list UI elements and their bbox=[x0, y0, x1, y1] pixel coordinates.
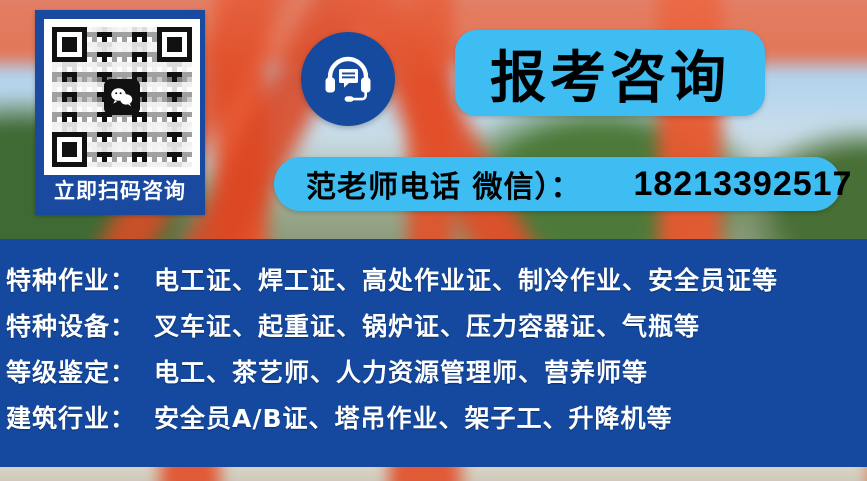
category-items: 电工证、焊工证、高处作业证、制冷作业、安全员证等 bbox=[154, 261, 778, 297]
category-label: 建筑行业： bbox=[6, 399, 136, 435]
headset-support-icon bbox=[301, 32, 395, 126]
category-items: 电工、茶艺师、人力资源管理师、营养师等 bbox=[154, 353, 648, 389]
wechat-icon bbox=[104, 79, 140, 115]
phone-contact-pill[interactable]: 范老师电话 微信）： 18213392517 bbox=[274, 157, 841, 211]
promo-poster: 立即扫码咨询 报考咨询 范老师电话 微信）： 18213392517 特种作业：… bbox=[0, 0, 867, 481]
qr-code-frame bbox=[44, 19, 200, 175]
qr-card[interactable]: 立即扫码咨询 bbox=[35, 10, 205, 215]
bottom-photo-strip bbox=[0, 467, 867, 481]
blurred-bottom-photo bbox=[0, 467, 867, 481]
category-items: 叉车证、起重证、锅炉证、压力容器证、气瓶等 bbox=[154, 307, 700, 343]
category-label: 特种设备： bbox=[6, 307, 136, 343]
info-row-special-operations: 特种作业： 电工证、焊工证、高处作业证、制冷作业、安全员证等 bbox=[0, 256, 867, 302]
category-items: 安全员A/B证、塔吊作业、架子工、升降机等 bbox=[154, 399, 673, 435]
info-row-construction-industry: 建筑行业： 安全员A/B证、塔吊作业、架子工、升降机等 bbox=[0, 394, 867, 440]
qr-caption: 立即扫码咨询 bbox=[39, 171, 201, 209]
qr-finder-top-left bbox=[52, 27, 87, 62]
category-label: 特种作业： bbox=[6, 261, 136, 297]
phone-number[interactable]: 18213392517 bbox=[633, 165, 852, 204]
info-row-special-equipment: 特种设备： 叉车证、起重证、锅炉证、压力容器证、气瓶等 bbox=[0, 302, 867, 348]
consultation-title-pill[interactable]: 报考咨询 bbox=[455, 30, 765, 116]
qr-finder-top-right bbox=[157, 27, 192, 62]
qr-finder-bottom-left bbox=[52, 132, 87, 167]
qr-code-image[interactable] bbox=[52, 27, 192, 167]
category-label: 等级鉴定： bbox=[6, 353, 136, 389]
certificate-category-panel: 特种作业： 电工证、焊工证、高处作业证、制冷作业、安全员证等 特种设备： 叉车证… bbox=[0, 239, 867, 467]
info-row-grade-appraisal: 等级鉴定： 电工、茶艺师、人力资源管理师、营养师等 bbox=[0, 348, 867, 394]
phone-label: 范老师电话 微信）： bbox=[306, 162, 581, 206]
